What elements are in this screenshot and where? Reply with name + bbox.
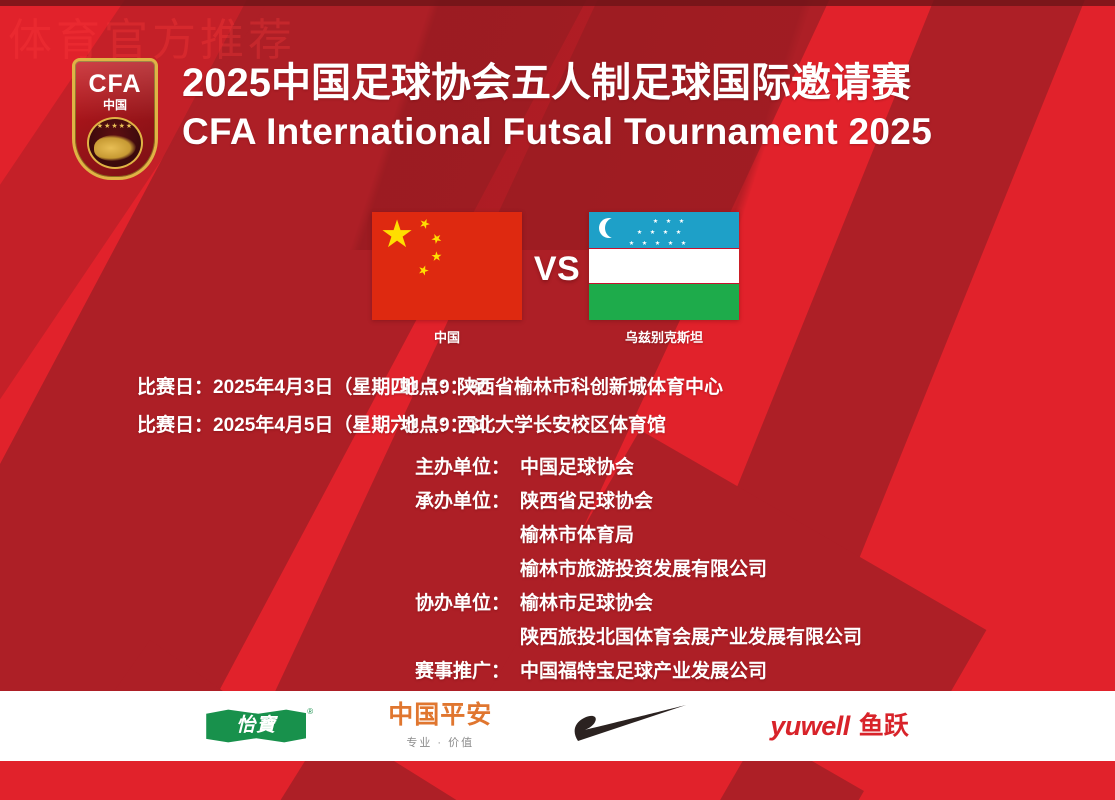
away-team: 乌兹别克斯坦 (589, 212, 739, 346)
pingan-label: 中国平安 (388, 702, 492, 730)
organizer-value: 榆林市旅游投资发展有限公司 (510, 560, 767, 579)
organizer-value: 榆林市足球协会 (510, 594, 653, 613)
yuwell-label-cn: 鱼跃 (859, 714, 909, 739)
flag-stars-group (629, 217, 719, 247)
sponsor-pingan[interactable]: 中国平安 专业 · 价值 (388, 698, 492, 754)
china-flag-icon: ★ ★ ★ ★ ★ (372, 212, 522, 320)
crescent-moon-cut (605, 218, 623, 238)
page-title-en: CFA International Futsal Tournament 2025 (182, 108, 932, 156)
yibao-logo-icon: 怡寶 ® (206, 703, 314, 749)
cfa-shield-icon: CFA 中国 ★★★★★ (72, 58, 158, 180)
organizer-row: 协办单位： 榆林市足球协会 (0, 594, 1115, 613)
organizer-key: 主办单位： (385, 458, 510, 477)
sponsor-nike[interactable] (566, 701, 696, 751)
organizer-value: 中国足球协会 (510, 458, 634, 477)
flag-star: ★ (417, 215, 433, 231)
flag-fimbriation (589, 283, 739, 285)
organizer-row: 承办单位： 陕西省足球协会 (0, 492, 1115, 511)
organizer-key: 协办单位： (385, 594, 510, 613)
organizer-row: 赛事推广： 中国福特宝足球产业发展公司 (0, 662, 1115, 681)
organizer-value: 陕西旅投北国体育会展产业发展有限公司 (510, 628, 862, 647)
yuwell-label-en: yuwell (770, 713, 850, 740)
organizer-value: 榆林市体育局 (510, 526, 634, 545)
uzbekistan-flag-icon (589, 212, 739, 320)
sponsor-bar: 怡寶 ® 中国平安 专业 · 价值 yuwell 鱼跃 (0, 691, 1115, 761)
flag-band-white (589, 248, 739, 284)
organizer-row: 榆林市旅游投资发展有限公司 (0, 560, 1115, 579)
flag-fimbriation (589, 248, 739, 250)
home-team-label: 中国 (372, 327, 522, 346)
flag-star: ★ (380, 216, 414, 254)
schedule-row: 比赛日：2025年4月3日（星期四）19：30 地点：陕西省榆林市科创新城体育中… (0, 378, 1115, 397)
page-title-cn: 2025中国足球协会五人制足球国际邀请赛 (182, 58, 932, 108)
registered-mark: ® (307, 707, 313, 716)
flag-star-row (653, 217, 719, 225)
cfa-stars: ★★★★★ (89, 123, 141, 130)
flag-star-row (637, 228, 719, 236)
cfa-country-label: 中国 (75, 99, 155, 111)
yibao-label: 怡寶 (206, 716, 306, 735)
sponsor-yibao[interactable]: 怡寶 ® (206, 698, 314, 754)
match-date: 比赛日：2025年4月5日（星期六）19：30 (0, 416, 400, 435)
poster-header: CFA 中国 ★★★★★ 2025中国足球协会五人制足球国际邀请赛 CFA In… (0, 58, 1115, 188)
organizer-value: 中国福特宝足球产业发展公司 (510, 662, 767, 681)
organizer-row: 陕西旅投北国体育会展产业发展有限公司 (0, 628, 1115, 647)
futsal-tournament-poster: 体育官方推荐 CFA 中国 ★★★★★ 2025中国足球协会五人制足球国际邀请赛… (0, 0, 1115, 800)
flag-band-green (589, 284, 739, 320)
cfa-acronym: CFA (75, 72, 155, 97)
sponsor-yuwell[interactable]: yuwell 鱼跃 (770, 698, 909, 754)
organizer-row: 榆林市体育局 (0, 526, 1115, 545)
match-venue: 地点：西北大学长安校区体育馆 (400, 416, 666, 435)
organizers-section: 主办单位： 中国足球协会 承办单位： 陕西省足球协会 榆林市体育局 榆林市旅游投… (0, 458, 1115, 696)
matchup-section: ★ ★ ★ ★ ★ 中国 VS (0, 212, 1115, 342)
versus-label: VS (528, 250, 586, 289)
organizer-value: 陕西省足球协会 (510, 492, 653, 511)
pingan-tagline: 专业 · 价值 (388, 734, 492, 750)
nike-swoosh-icon (568, 703, 694, 749)
organizer-key: 赛事推广： (385, 662, 510, 681)
poster-footer (0, 761, 1115, 800)
away-team-label: 乌兹别克斯坦 (589, 327, 739, 346)
footer-stripe (245, 761, 686, 800)
organizer-key: 承办单位： (385, 492, 510, 511)
flag-star: ★ (417, 264, 430, 276)
flag-star: ★ (428, 230, 445, 247)
cfa-logo: CFA 中国 ★★★★★ (72, 58, 158, 180)
flag-star: ★ (429, 249, 445, 264)
match-date: 比赛日：2025年4月3日（星期四）19：30 (0, 378, 400, 397)
flag-star-row (629, 239, 719, 247)
footer-stripe (690, 761, 864, 800)
match-schedule: 比赛日：2025年4月3日（星期四）19：30 地点：陕西省榆林市科创新城体育中… (0, 378, 1115, 454)
poster-titles: 2025中国足球协会五人制足球国际邀请赛 CFA International F… (182, 58, 932, 156)
organizer-row: 主办单位： 中国足球协会 (0, 458, 1115, 477)
home-team: ★ ★ ★ ★ ★ 中国 (372, 212, 522, 346)
dragon-silhouette-icon (94, 135, 136, 161)
cfa-dragon-emblem-icon: ★★★★★ (87, 117, 143, 169)
schedule-row: 比赛日：2025年4月5日（星期六）19：30 地点：西北大学长安校区体育馆 (0, 416, 1115, 435)
match-venue: 地点：陕西省榆林市科创新城体育中心 (400, 378, 723, 397)
